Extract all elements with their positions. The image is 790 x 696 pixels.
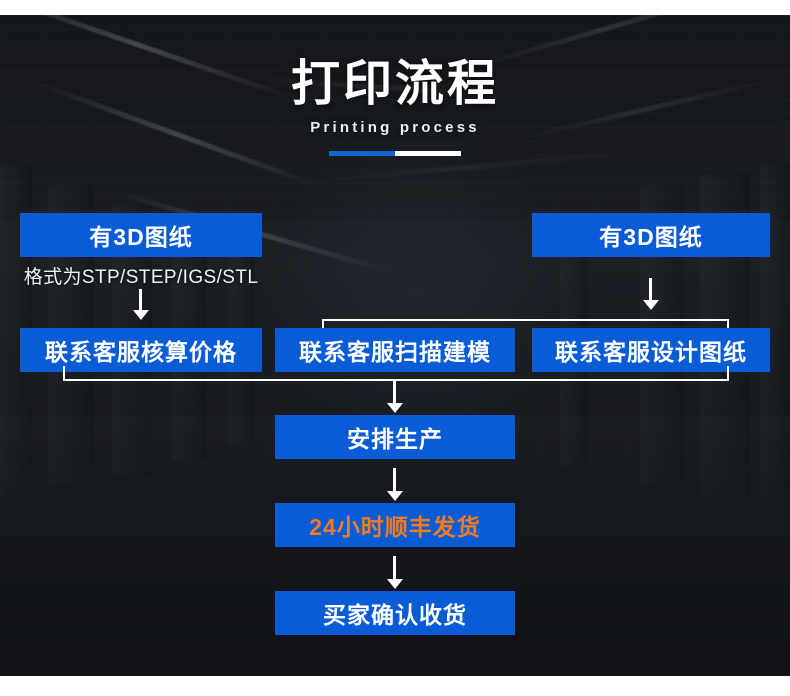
page-margin-bottom bbox=[0, 676, 790, 696]
print-process-infographic: 打印流程 Printing process 有3D图纸 有3D图纸 格式为STP… bbox=[0, 0, 790, 696]
arrow-down-to-production bbox=[393, 379, 396, 404]
node-has-drawing-right[interactable]: 有3D图纸 bbox=[532, 213, 770, 257]
page-margin-top bbox=[0, 0, 790, 15]
node-has-drawing-left[interactable]: 有3D图纸 bbox=[20, 213, 262, 257]
node-buyer-confirm[interactable]: 买家确认收货 bbox=[275, 591, 515, 635]
arrow-down-left-column bbox=[139, 289, 142, 311]
arrow-down-to-buyer-confirm bbox=[393, 556, 396, 580]
caption-format-note: 格式为STP/STEP/IGS/STL bbox=[20, 262, 262, 289]
connector-bracket-bottom bbox=[63, 366, 729, 381]
arrow-down-to-shipping bbox=[393, 468, 396, 492]
arrow-down-right-column bbox=[649, 278, 652, 301]
flow-chart: 有3D图纸 有3D图纸 格式为STP/STEP/IGS/STL 联系客服核算价格… bbox=[0, 0, 790, 696]
node-shipping[interactable]: 24小时顺丰发货 bbox=[275, 503, 515, 547]
node-production[interactable]: 安排生产 bbox=[275, 415, 515, 459]
